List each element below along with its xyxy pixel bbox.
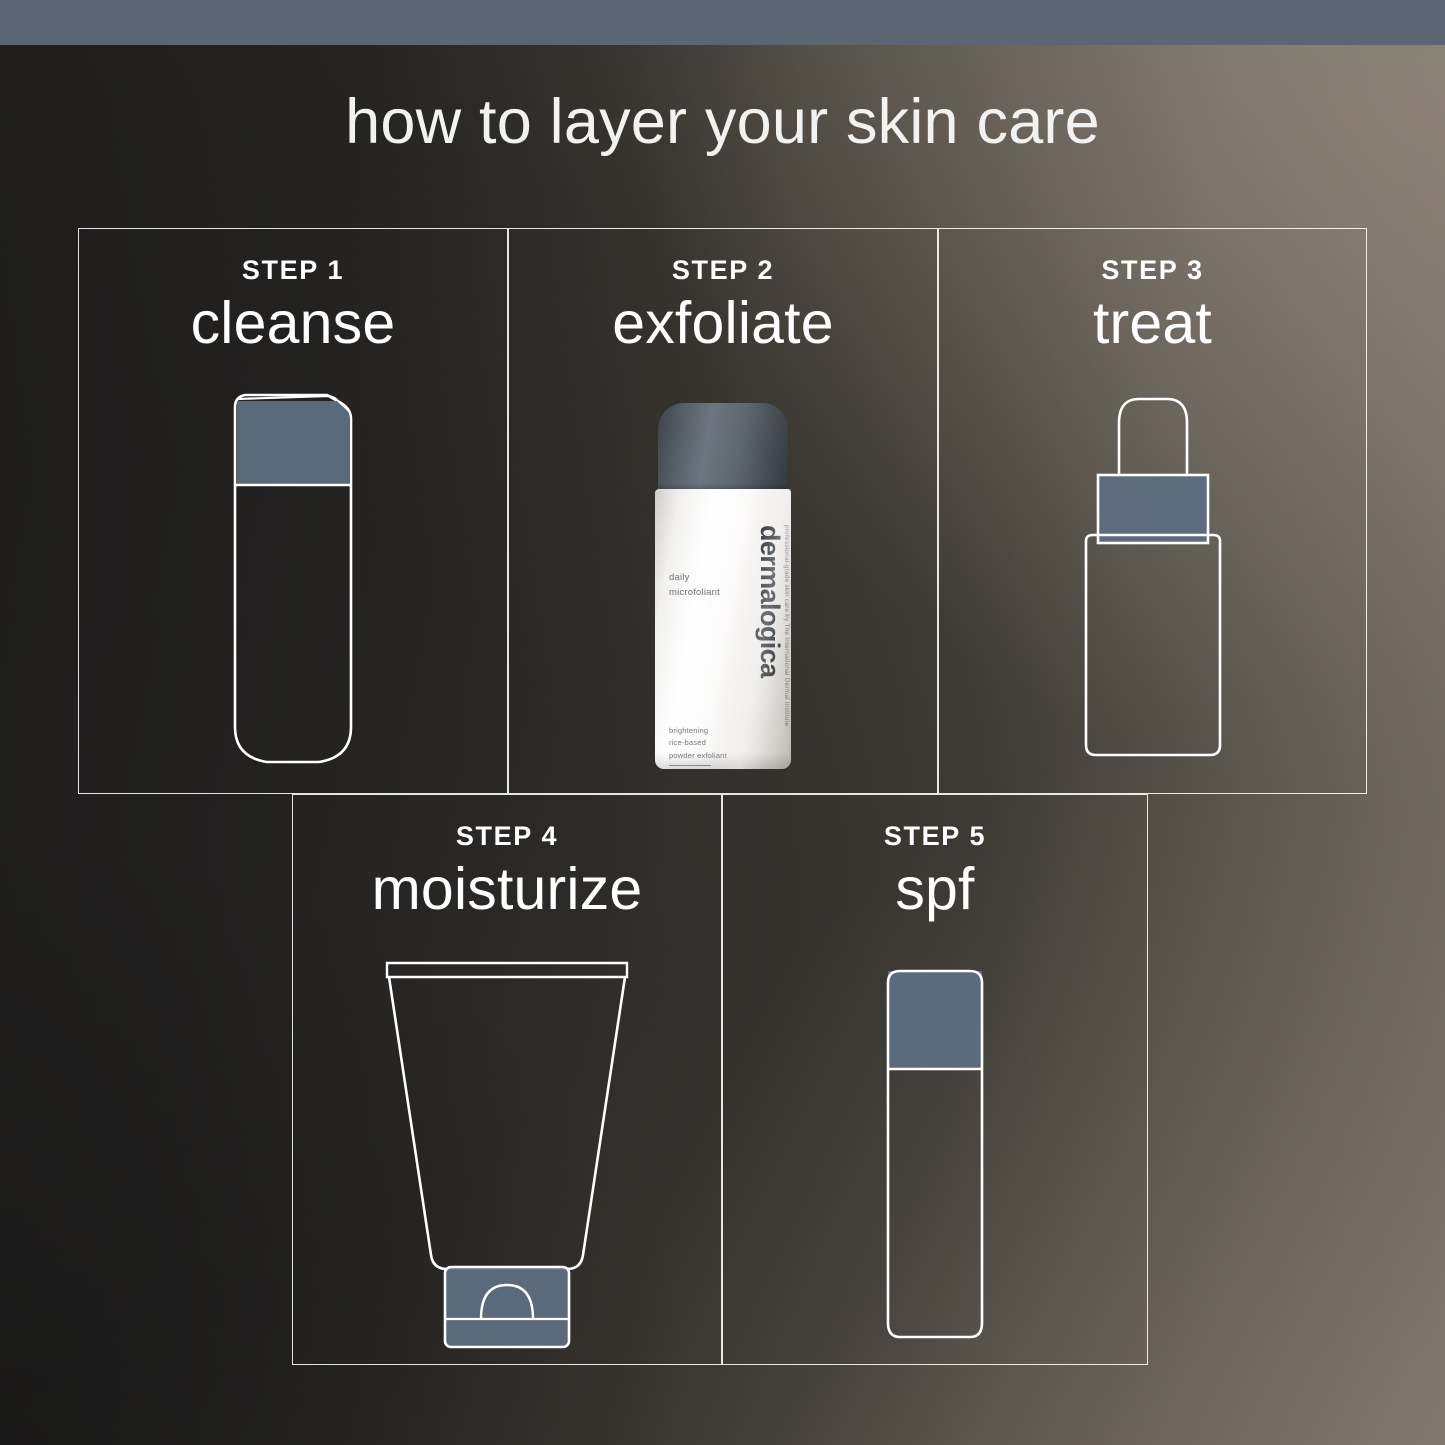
step-card-2: STEP 2 exfoliate daily microfoliant brig… bbox=[508, 228, 938, 794]
step-card-5: STEP 5 spf bbox=[722, 794, 1148, 1365]
step-1-artwork bbox=[79, 379, 507, 779]
step-2-name: exfoliate bbox=[509, 288, 937, 359]
product-body: daily microfoliant brightening rice-base… bbox=[655, 489, 791, 769]
step-2-label: STEP 2 bbox=[509, 255, 937, 286]
step-card-3: STEP 3 treat bbox=[938, 228, 1367, 794]
product-brand-logo: dermalogica bbox=[756, 525, 783, 677]
step-4-name: moisturize bbox=[293, 854, 721, 925]
step-3-label: STEP 3 bbox=[939, 255, 1366, 286]
step-4-label: STEP 4 bbox=[293, 821, 721, 852]
dropper-bottle-icon bbox=[1063, 389, 1243, 769]
page-title: how to layer your skin care bbox=[0, 88, 1445, 157]
product-divider-rule bbox=[669, 765, 711, 766]
product-name-line2: microfoliant bbox=[669, 586, 720, 601]
cream-tube-icon bbox=[383, 955, 631, 1355]
step-5-label: STEP 5 bbox=[723, 821, 1147, 852]
step-3-name: treat bbox=[939, 288, 1366, 359]
step-2-artwork: daily microfoliant brightening rice-base… bbox=[509, 381, 937, 791]
spf-bottle-icon bbox=[883, 965, 987, 1345]
step-1-label: STEP 1 bbox=[79, 255, 507, 286]
step-5-name: spf bbox=[723, 854, 1147, 925]
product-cap bbox=[658, 403, 788, 493]
product-name: daily microfoliant bbox=[669, 571, 720, 600]
step-1-name: cleanse bbox=[79, 288, 507, 359]
step-3-artwork bbox=[939, 379, 1366, 779]
cleanser-bottle-icon bbox=[229, 389, 357, 769]
product-description-en: brightening rice-based powder exfoliant bbox=[669, 725, 727, 762]
top-slate-band bbox=[0, 0, 1445, 45]
step-5-artwork bbox=[723, 955, 1147, 1355]
daily-microfoliant-product-photo: daily microfoliant brightening rice-base… bbox=[655, 403, 791, 769]
step-card-1: STEP 1 cleanse bbox=[78, 228, 508, 794]
infographic-canvas: how to layer your skin care STEP 1 clean… bbox=[0, 0, 1445, 1445]
step-card-4: STEP 4 moisturize bbox=[292, 794, 722, 1365]
product-name-line1: daily bbox=[669, 571, 720, 586]
step-4-artwork bbox=[293, 955, 721, 1355]
